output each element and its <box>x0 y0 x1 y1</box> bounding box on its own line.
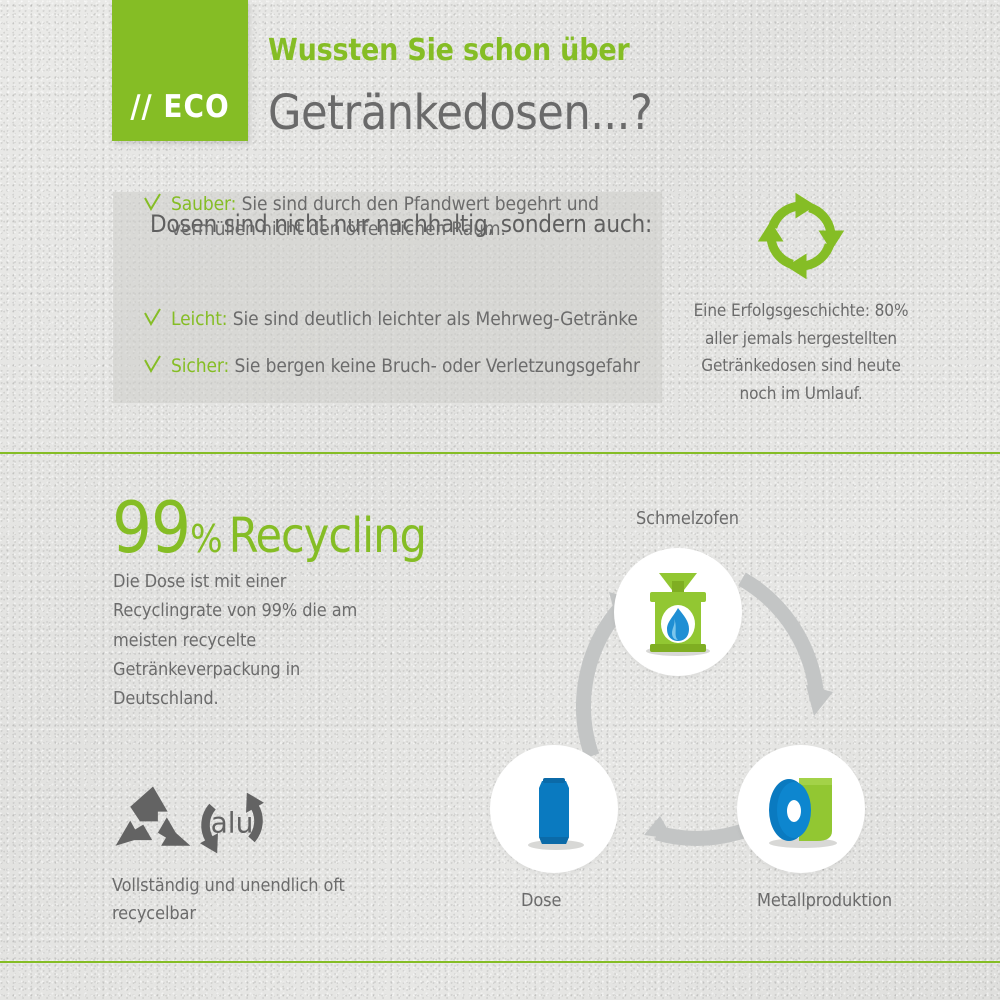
list-item-desc: Sie bergen keine Bruch- oder Verletzungs… <box>234 355 639 377</box>
metal-coil-icon <box>737 745 865 873</box>
recycling-rate-body: Die Dose ist mit einer Recyclingrate von… <box>113 567 373 714</box>
cycle-node-schmelzofen[interactable] <box>614 548 742 676</box>
recycling-arrows-icon <box>755 190 847 282</box>
cycle-node-dose[interactable] <box>490 745 618 873</box>
furnace-icon <box>614 548 742 676</box>
check-icon <box>143 355 162 380</box>
section-divider-top <box>0 452 1000 454</box>
header-kicker: Wussten Sie schon über <box>268 33 630 68</box>
mobius-loop-recycling-icon <box>112 784 194 862</box>
list-item-desc: Sie sind deutlich leichter als Mehrweg-G… <box>233 308 638 330</box>
eco-badge-label: // ECO <box>112 89 248 125</box>
fact-box: Dosen sind nicht nur nachhaltig, sondern… <box>113 192 662 403</box>
page-title: Getränkedosen...? <box>268 85 652 141</box>
list-item-term: Sicher: <box>171 355 229 377</box>
recycling-rate-heading: 99%Recycling <box>112 487 426 569</box>
recycling-rate-unit: % <box>190 517 222 561</box>
cycle-node-metallproduktion[interactable] <box>737 745 865 873</box>
section-divider-bottom <box>0 961 1000 963</box>
list-item-term: Sauber: <box>171 193 236 215</box>
list-item-term: Leicht: <box>171 308 227 330</box>
recycling-rate-word: Recycling <box>229 508 426 564</box>
cycle-label-schmelzofen: Schmelzofen <box>636 508 739 529</box>
eco-badge: // ECO <box>112 0 248 141</box>
cycle-label-dose: Dose <box>521 890 561 911</box>
list-item: Sauber: Sie sind durch den Pfandwert beg… <box>143 192 662 242</box>
recycling-rate-value: 99 <box>112 487 190 569</box>
check-icon <box>143 308 162 333</box>
check-icon <box>143 193 162 218</box>
cycle-label-metallproduktion: Metallproduktion <box>757 890 892 911</box>
list-item: Leicht: Sie sind deutlich leichter als M… <box>143 307 638 333</box>
list-item-desc: Sie sind durch den Pfandwert begehrt und… <box>171 193 599 240</box>
recycling-cycle-diagram: Dose Metallproduktion Schmelzofen <box>490 500 930 930</box>
marks-caption: Vollständig und unendlich oft recycelbar <box>112 872 412 929</box>
alu-label: alu <box>211 806 254 839</box>
alu-recycling-icon: alu <box>193 784 271 862</box>
success-caption: Eine Erfolgsgeschichte: 80% aller jemals… <box>690 298 912 408</box>
list-item: Sicher: Sie bergen keine Bruch- oder Ver… <box>143 354 640 380</box>
beverage-can-icon <box>490 745 618 873</box>
